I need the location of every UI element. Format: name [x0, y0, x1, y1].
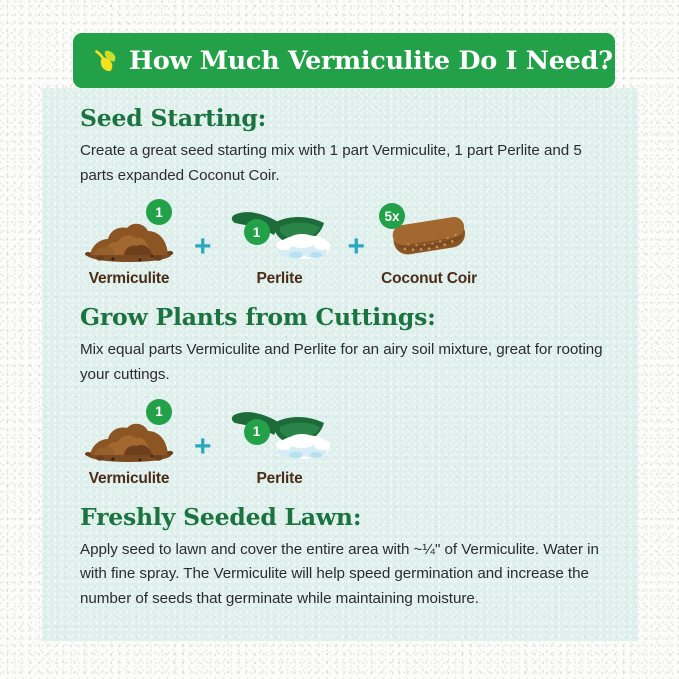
- section-seed-starting: Seed Starting: Create a great seed start…: [80, 105, 612, 288]
- ingredient-label: Perlite: [257, 270, 303, 288]
- section-body: Create a great seed starting mix with 1 …: [80, 139, 612, 188]
- section-body: Apply seed to lawn and cover the entire …: [80, 538, 612, 612]
- plus-separator: +: [348, 232, 366, 262]
- section-heading: Grow Plants from Cuttings:: [80, 304, 612, 331]
- ingredient-vermiculite: 1 Vermiculite: [80, 401, 178, 488]
- section-heading: Seed Starting:: [80, 105, 612, 132]
- section-body: Mix equal parts Vermiculite and Perlite …: [80, 338, 612, 387]
- ingredient-label: Perlite: [257, 470, 303, 488]
- content-area: Seed Starting: Create a great seed start…: [80, 105, 612, 611]
- ingredient-label: Vermiculite: [89, 470, 170, 488]
- ingredient-badge: 1: [244, 419, 270, 445]
- ingredient-perlite: 1 Perlite: [228, 401, 332, 488]
- coconut-coir-art: 5x: [381, 201, 477, 263]
- perlite-art: 1: [228, 201, 332, 263]
- ingredient-badge: 1: [244, 219, 270, 245]
- ingredient-vermiculite: 1 Vermiculite: [80, 201, 178, 288]
- perlite-art: 1: [228, 401, 332, 463]
- section-grow-plants-from-cuttings: Grow Plants from Cuttings: Mix equal par…: [80, 304, 612, 487]
- ingredient-coconut-coir: 5x Coconut Coir: [381, 201, 477, 288]
- section-heading: Freshly Seeded Lawn:: [80, 504, 612, 531]
- plus-separator: +: [194, 432, 212, 462]
- vermiculite-art: 1: [80, 201, 178, 263]
- plus-separator: +: [194, 232, 212, 262]
- vermiculite-art: 1: [80, 401, 178, 463]
- ingredient-perlite: 1 Perlite: [228, 201, 332, 288]
- ingredient-row: 1 Vermiculite +: [80, 401, 612, 488]
- ingredient-label: Vermiculite: [89, 270, 170, 288]
- section-freshly-seeded-lawn: Freshly Seeded Lawn: Apply seed to lawn …: [80, 504, 612, 612]
- ingredient-row: 1 Vermiculite +: [80, 201, 612, 288]
- page-title: How Much Vermiculite Do I Need?: [129, 46, 613, 76]
- header-bar: How Much Vermiculite Do I Need?: [73, 33, 615, 88]
- ingredient-badge: 1: [146, 399, 172, 425]
- ingredient-label: Coconut Coir: [381, 270, 477, 288]
- leaf-icon: [90, 46, 120, 76]
